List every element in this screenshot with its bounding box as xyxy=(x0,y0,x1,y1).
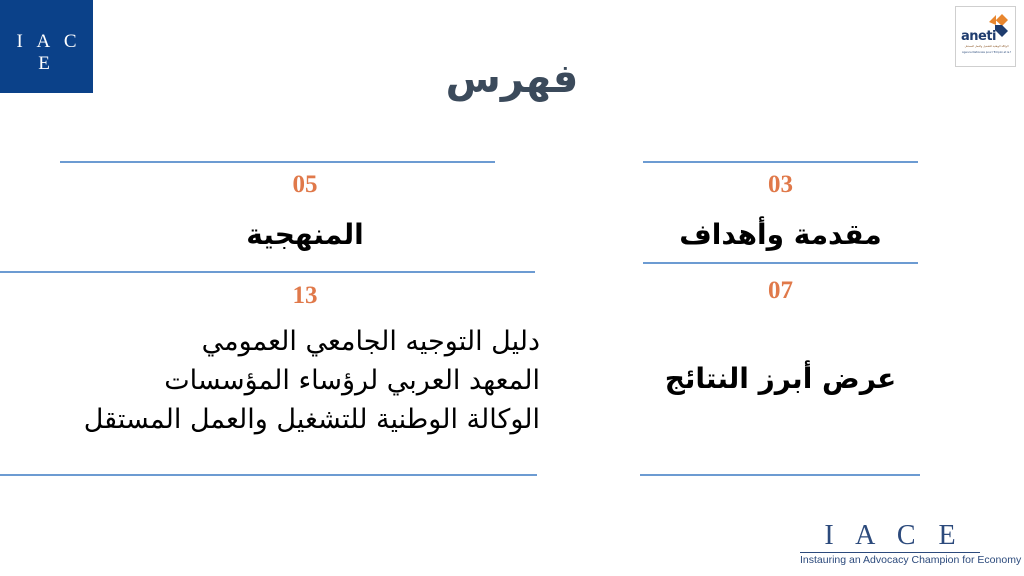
toc-sublist-item-1[interactable]: دليل التوجيه الجامعي العمومي xyxy=(0,322,540,361)
toc-sublist-partners[interactable]: دليل التوجيه الجامعي العمومي المعهد العر… xyxy=(0,322,540,439)
rule-right-middle xyxy=(643,262,918,264)
aneti-subtitle-fr: Agence Nationale pour l'Emploi et le Tra… xyxy=(962,51,1011,54)
aneti-subtitle-ar: الوكالة الوطنية للتشغيل والعمل المستقل xyxy=(962,45,1011,48)
rule-right-top xyxy=(643,161,918,163)
rule-left-top xyxy=(60,161,495,163)
toc-number-13: 13 xyxy=(20,282,590,310)
toc-number-07: 07 xyxy=(643,277,918,305)
footer-brand-divider xyxy=(800,552,980,553)
slide-canvas: I A C E aneti الوكالة الوطنية للتشغيل وا… xyxy=(0,0,1024,576)
rule-right-bottom xyxy=(640,474,920,476)
toc-number-03: 03 xyxy=(643,171,918,199)
toc-sublist-item-2[interactable]: المعهد العربي لرؤساء المؤسسات xyxy=(0,361,540,400)
rule-left-bottom xyxy=(0,474,537,476)
toc-sublist-item-3[interactable]: الوكالة الوطنية للتشغيل والعمل المستقل xyxy=(0,400,540,439)
toc-number-05: 05 xyxy=(20,171,590,199)
toc-label-methodology[interactable]: المنهجية xyxy=(20,218,590,251)
footer-brand-iace: I A C E Instauring an Advocacy Champion … xyxy=(800,521,980,567)
footer-brand-tagline: Instauring an Advocacy Champion for Econ… xyxy=(800,554,980,567)
toc-label-key-results[interactable]: عرض أبرز النتائج xyxy=(643,362,918,395)
footer-brand-name: I A C E xyxy=(800,521,980,551)
toc-label-introduction-objectives[interactable]: مقدمة وأهداف xyxy=(643,218,918,251)
aneti-wordmark: aneti xyxy=(961,29,996,44)
rule-left-middle xyxy=(0,271,535,273)
page-title: فهرس xyxy=(0,56,1024,102)
